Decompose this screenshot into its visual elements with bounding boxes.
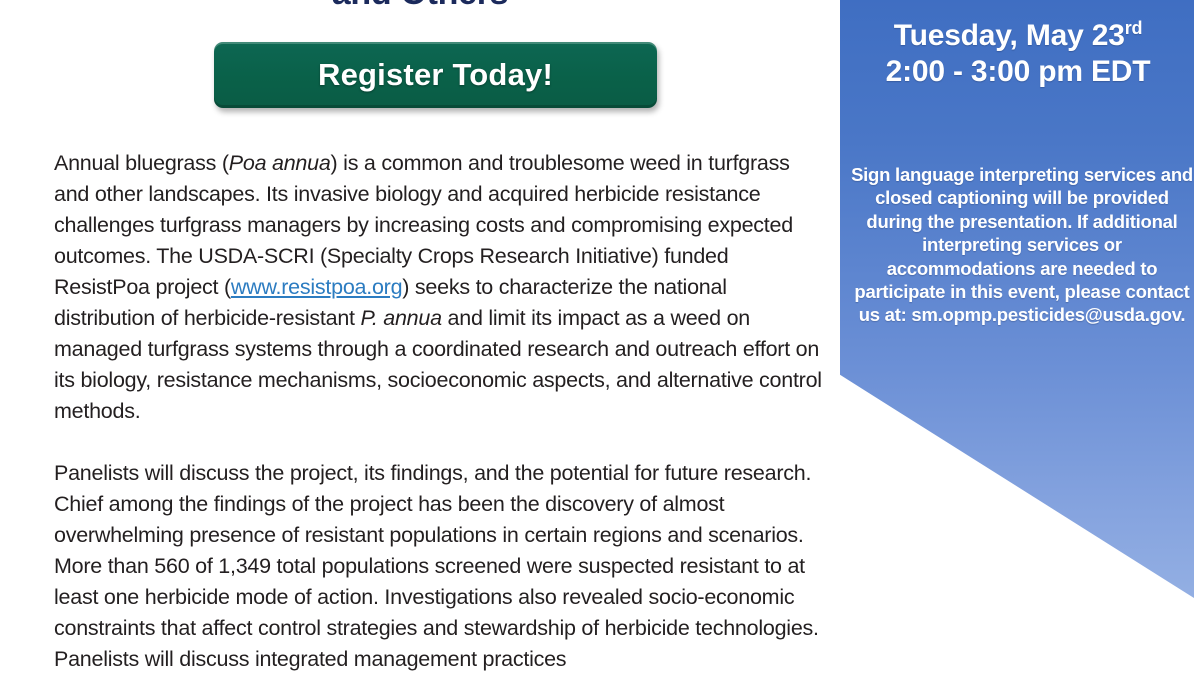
register-button[interactable]: Register Today! (214, 42, 657, 108)
resistpoa-link[interactable]: www.resistpoa.org (231, 275, 402, 299)
para1-part-a: Annual bluegrass ( (54, 151, 229, 175)
accessibility-note: Sign language interpreting services and … (850, 163, 1194, 327)
species-name-poa-annua: Poa annua (229, 151, 331, 175)
event-date-text: Tuesday, May 23 (894, 19, 1125, 52)
event-date-line: Tuesday, May 23rd (840, 18, 1196, 54)
paragraph-one: Annual bluegrass (Poa annua) is a common… (54, 148, 829, 427)
page-title: and Others (0, 0, 840, 12)
paragraph-two: Panelists will discuss the project, its … (54, 458, 829, 675)
event-time-line: 2:00 - 3:00 pm EDT (840, 54, 1196, 90)
flyer-canvas: Tuesday, May 23rd 2:00 - 3:00 pm EDT Sig… (0, 0, 1200, 630)
event-date-ordinal: rd (1125, 18, 1143, 38)
event-datetime: Tuesday, May 23rd 2:00 - 3:00 pm EDT (840, 18, 1196, 90)
species-name-p-annua: P. annua (361, 306, 442, 330)
body-copy: Annual bluegrass (Poa annua) is a common… (54, 148, 829, 675)
